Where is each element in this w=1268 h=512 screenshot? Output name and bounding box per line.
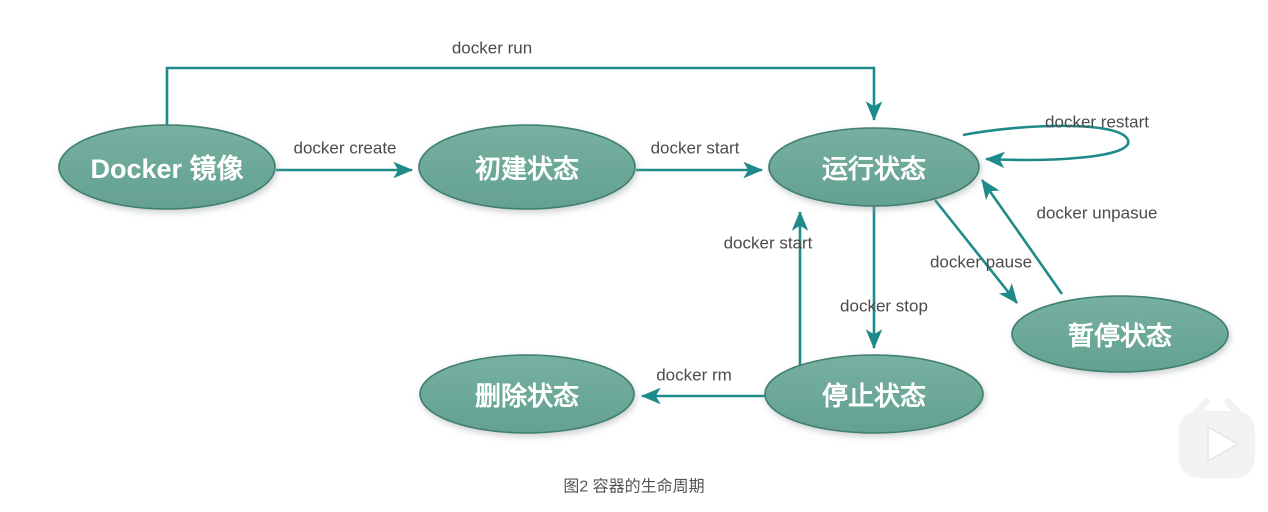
edge-path-run: [167, 68, 874, 125]
diagram-canvas: Docker 镜像 初建状态 运行状态 暂停状态 停止状态 删除状态: [0, 0, 1268, 512]
node-removed[interactable]: 删除状态: [420, 355, 634, 433]
node-stopped[interactable]: 停止状态: [765, 355, 983, 433]
edge-label-pause: docker pause: [930, 253, 1032, 272]
edge-label-start-created: docker start: [651, 139, 740, 158]
figure-caption: 图2 容器的生命周期: [563, 478, 704, 496]
container-lifecycle-diagram: Docker 镜像 初建状态 运行状态 暂停状态 停止状态 删除状态: [0, 0, 1268, 512]
edge-label-rm: docker rm: [656, 366, 732, 385]
edge-label-unpause: docker unpasue: [1037, 204, 1158, 223]
edge-label-run: docker run: [452, 39, 532, 58]
edge-path-unpause: [982, 180, 1062, 294]
node-label-created: 初建状态: [475, 154, 579, 184]
node-running[interactable]: 运行状态: [769, 128, 979, 206]
edge-path-pause: [935, 200, 1017, 303]
node-label-stopped: 停止状态: [822, 381, 926, 411]
node-label-running: 运行状态: [822, 154, 926, 184]
node-label-paused: 暂停状态: [1068, 321, 1172, 351]
node-label-docker-image: Docker 镜像: [90, 154, 243, 184]
node-created[interactable]: 初建状态: [419, 125, 635, 209]
edges-layer: [167, 68, 1128, 396]
node-label-removed: 删除状态: [475, 381, 579, 411]
edge-label-restart: docker restart: [1045, 113, 1149, 132]
edge-label-stop: docker stop: [840, 297, 928, 316]
node-docker-image[interactable]: Docker 镜像: [59, 125, 275, 209]
node-paused[interactable]: 暂停状态: [1012, 296, 1228, 372]
edge-label-start-stopped: docker start: [724, 234, 813, 253]
edge-label-create: docker create: [294, 139, 397, 158]
watermark-tv-play-icon: [1179, 402, 1255, 478]
